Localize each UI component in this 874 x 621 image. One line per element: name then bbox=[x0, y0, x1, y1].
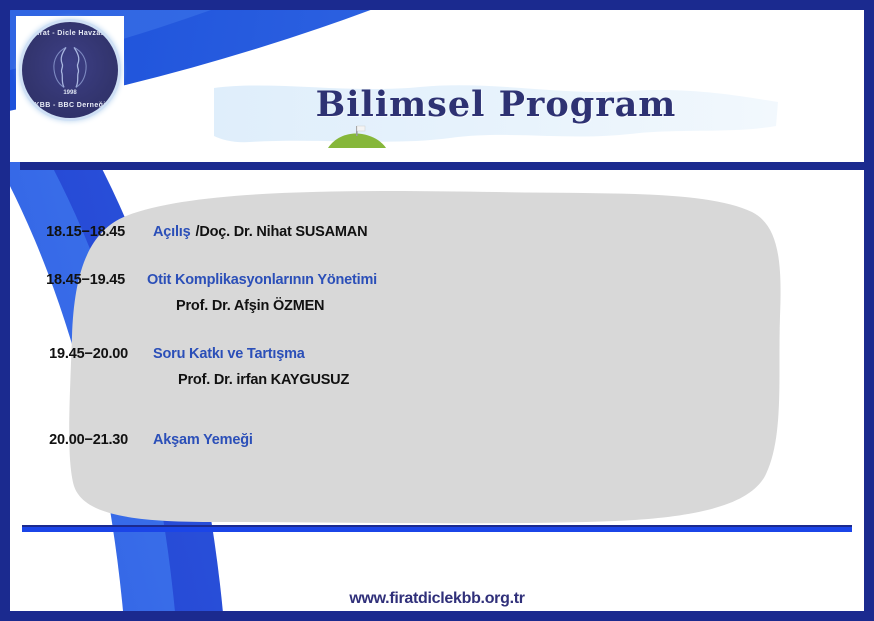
slide-root: Fırat - Dicle Havzası 1998 KBB - BBC Der… bbox=[0, 0, 874, 621]
schedule-row-1-time: 18.15−18.45 bbox=[10, 224, 125, 240]
footer-divider-rule bbox=[22, 525, 852, 532]
schedule-row-1-topic: Açılış bbox=[153, 224, 191, 240]
schedule-row-1-line: 18.15−18.45 Açılış /Doç. Dr. Nihat SUSAM… bbox=[10, 224, 864, 240]
flag-cloth bbox=[357, 126, 365, 131]
schedule-row-2-line: 18.45−19.45 Otit Komplikasyonlarının Yön… bbox=[10, 272, 864, 288]
schedule-row-3-speaker: Prof. Dr. irfan KAYGUSUZ bbox=[178, 372, 864, 388]
schedule-list: 18.15−18.45 Açılış /Doç. Dr. Nihat SUSAM… bbox=[10, 216, 864, 448]
schedule-row-3-topic: Soru Katkı ve Tartışma bbox=[153, 346, 305, 362]
schedule-row-4-topic: Akşam Yemeği bbox=[153, 432, 253, 448]
schedule-row-3-time: 19.45−20.00 bbox=[10, 346, 128, 362]
schedule-row-2-time: 18.45−19.45 bbox=[10, 272, 125, 288]
logo-faces-icon bbox=[42, 45, 98, 89]
schedule-row-4-time: 20.00−21.30 bbox=[10, 432, 128, 448]
header-divider-rule bbox=[20, 162, 864, 170]
schedule-row-3: 19.45−20.00 Soru Katkı ve Tartışma Prof.… bbox=[10, 346, 864, 388]
schedule-row-2-speaker: Prof. Dr. Afşin ÖZMEN bbox=[176, 298, 864, 314]
schedule-row-1: 18.15−18.45 Açılış /Doç. Dr. Nihat SUSAM… bbox=[10, 224, 864, 240]
title-banner: Bilimsel Program bbox=[210, 78, 782, 156]
schedule-row-3-line: 19.45−20.00 Soru Katkı ve Tartışma bbox=[10, 346, 864, 362]
schedule-row-4-line: 20.00−21.30 Akşam Yemeği bbox=[10, 432, 864, 448]
association-logo: Fırat - Dicle Havzası 1998 KBB - BBC Der… bbox=[16, 16, 124, 124]
logo-arc-bottom-text: KBB - BBC Derneği bbox=[22, 102, 118, 109]
logo-arc-top-text: Fırat - Dicle Havzası bbox=[22, 30, 118, 37]
footer-website-url[interactable]: www.firatdiclekbb.org.tr bbox=[10, 590, 864, 608]
slide-sheet: Fırat - Dicle Havzası 1998 KBB - BBC Der… bbox=[10, 10, 864, 611]
schedule-row-2-topic: Otit Komplikasyonlarının Yönetimi bbox=[147, 272, 377, 288]
page-title: Bilimsel Program bbox=[210, 84, 782, 125]
schedule-row-2: 18.45−19.45 Otit Komplikasyonlarının Yön… bbox=[10, 272, 864, 314]
schedule-row-1-speaker: /Doç. Dr. Nihat SUSAMAN bbox=[196, 224, 368, 240]
schedule-row-4: 20.00−21.30 Akşam Yemeği bbox=[10, 432, 864, 448]
logo-year-text: 1998 bbox=[22, 90, 118, 96]
logo-disc: Fırat - Dicle Havzası 1998 KBB - BBC Der… bbox=[22, 22, 118, 118]
